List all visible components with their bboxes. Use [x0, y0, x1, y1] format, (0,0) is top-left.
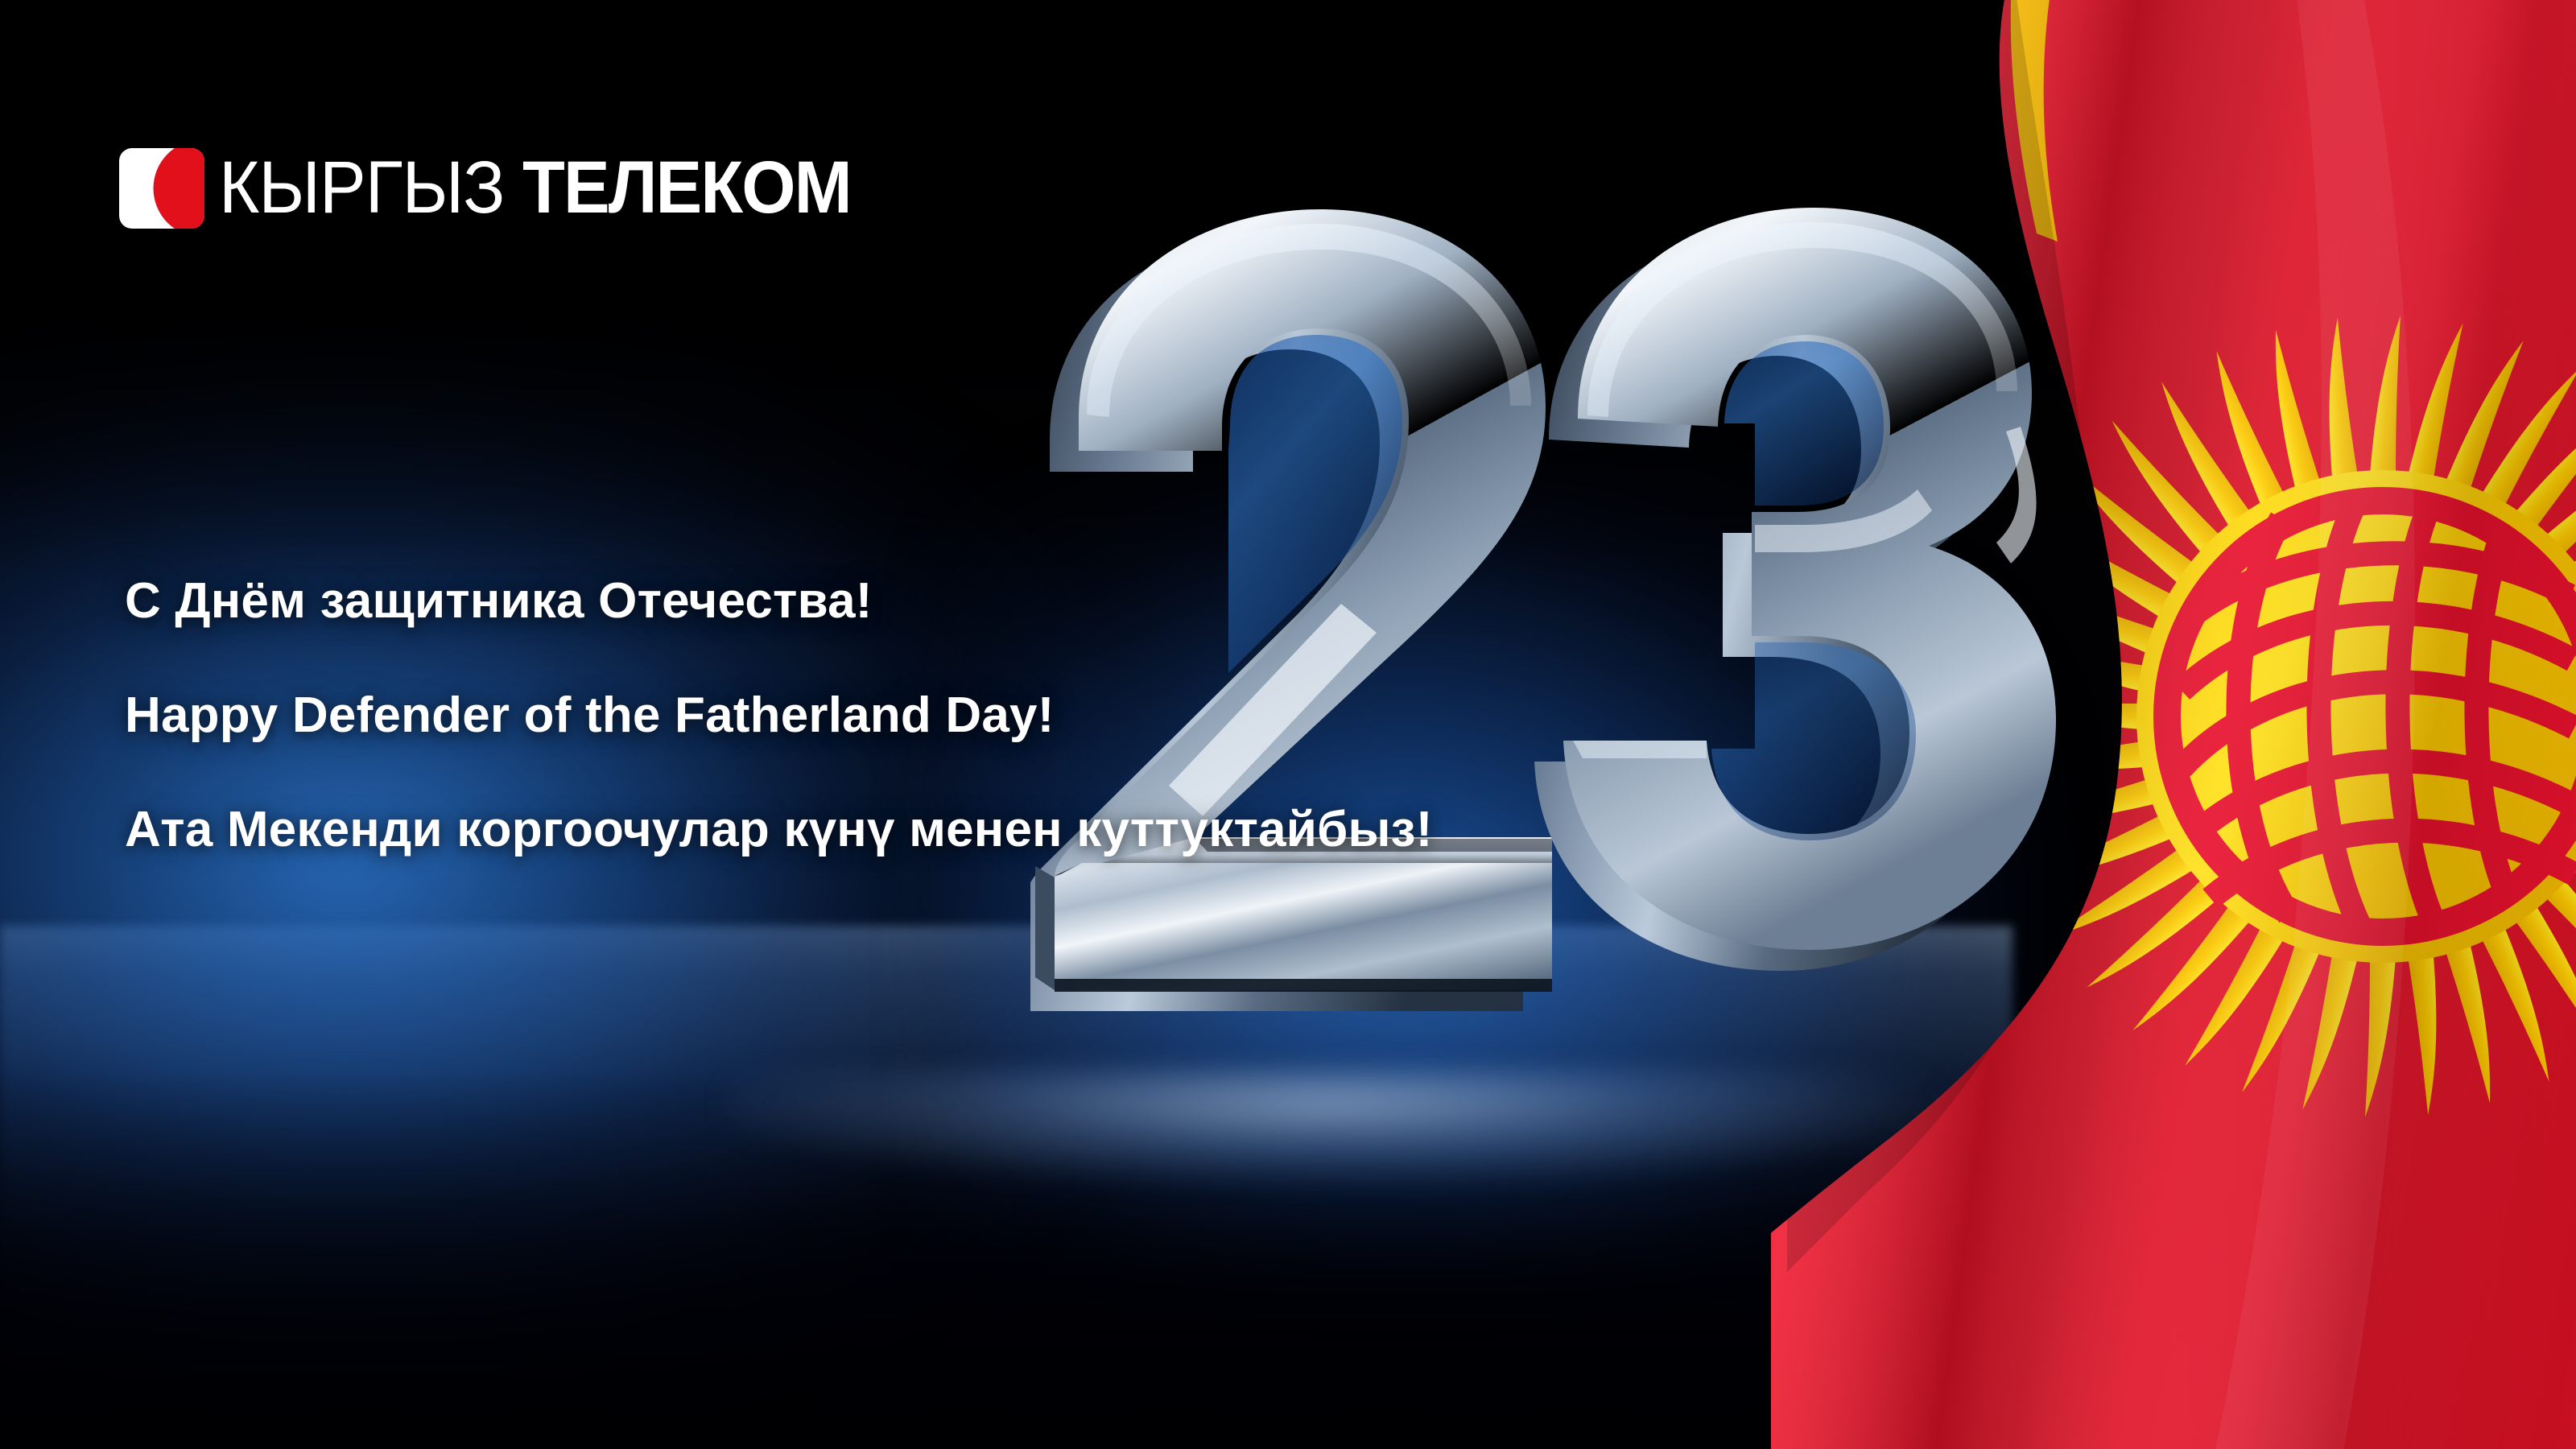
greeting-line-kyrgyz: Ата Мекенди коргоочулар күнү менен кутту…: [125, 805, 1433, 855]
kyrgyztelecom-logo-mark-icon: [119, 148, 204, 229]
brand-name-bold: ТЕЛЕКОМ: [522, 153, 851, 223]
greeting-line-russian: С Днём защитника Отечества!: [125, 576, 1433, 626]
greeting-poster: КЫРГЫЗТЕЛЕКОМ С Днём защитника Отечества…: [0, 0, 2576, 1449]
flag-cloth: [1771, 0, 2576, 1449]
brand-logo[interactable]: КЫРГЫЗТЕЛЕКОМ: [119, 148, 872, 229]
greeting-text-block: С Днём защитника Отечества! Happy Defend…: [125, 576, 1433, 855]
brand-name-thin: КЫРГЫЗ: [219, 153, 505, 223]
greeting-line-english: Happy Defender of the Fatherland Day!: [125, 691, 1433, 741]
brand-wordmark: КЫРГЫЗТЕЛЕКОМ: [219, 153, 872, 223]
kyrgyzstan-flag: [1771, 0, 2576, 1449]
